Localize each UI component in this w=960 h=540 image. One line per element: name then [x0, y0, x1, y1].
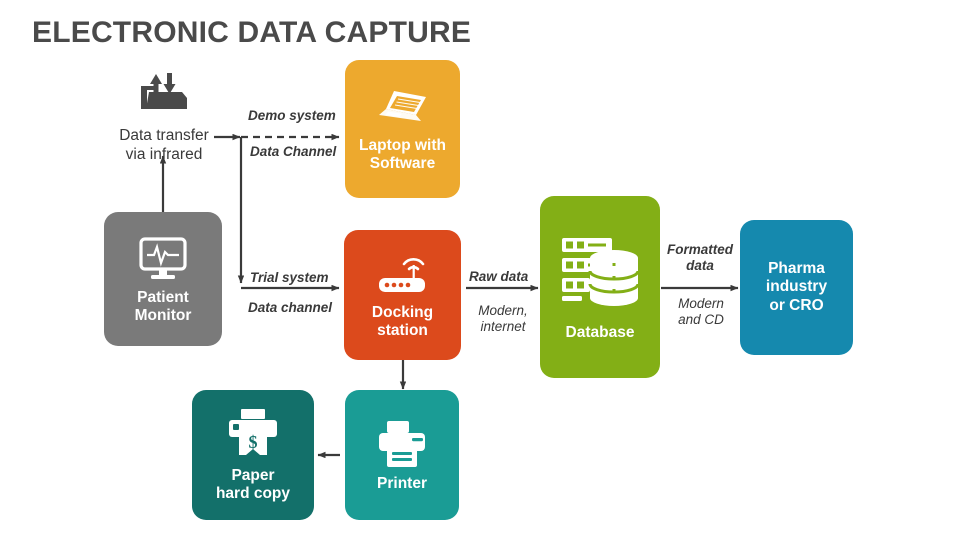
node-patient-monitor[interactable]: Patient Monitor — [104, 212, 222, 346]
node-paper-hard-copy[interactable]: $ Paper hard copy — [192, 390, 314, 520]
node-label: Docking station — [368, 304, 437, 341]
node-pharma-industry[interactable]: Pharma industry or CRO — [740, 220, 853, 355]
edge-label-formatted-data: Formatted data — [662, 242, 738, 274]
node-database[interactable]: Database — [540, 196, 660, 378]
edge-label-raw-data: Raw data — [469, 269, 541, 285]
node-label: Laptop with Software — [355, 137, 450, 174]
printed-invoice-icon: $ — [222, 407, 284, 461]
laptop-icon — [372, 85, 434, 131]
node-label: Printer — [373, 475, 431, 493]
page-title: ELECTRONIC DATA CAPTURE — [32, 16, 471, 50]
node-laptop[interactable]: Laptop with Software — [345, 60, 460, 198]
edge-label-modern-and-cd: Modern and CD — [665, 296, 737, 328]
node-docking-station[interactable]: Docking station — [344, 230, 461, 360]
node-label: Pharma industry or CRO — [762, 260, 831, 315]
edge-label-data-channel-upper: Data Channel — [250, 144, 365, 160]
database-server-icon — [558, 232, 642, 318]
edge-label-modern-internet: Modern, internet — [467, 303, 539, 335]
heart-monitor-icon — [132, 233, 194, 283]
node-label: Database — [562, 324, 639, 342]
folder-transfer-icon — [134, 66, 194, 116]
edge-label-data-channel-lower: Data channel — [248, 300, 363, 316]
node-printer[interactable]: Printer — [345, 390, 459, 520]
printer-icon — [371, 417, 433, 469]
node-label: Patient Monitor — [131, 289, 196, 326]
router-icon — [371, 250, 435, 298]
edge-label-demo-system: Demo system — [248, 108, 358, 124]
svg-text:$: $ — [249, 432, 258, 452]
edge-label-trial-system: Trial system — [250, 270, 360, 286]
node-label: Paper hard copy — [212, 467, 294, 504]
data-transfer-label: Data transfer via infrared — [96, 126, 232, 165]
